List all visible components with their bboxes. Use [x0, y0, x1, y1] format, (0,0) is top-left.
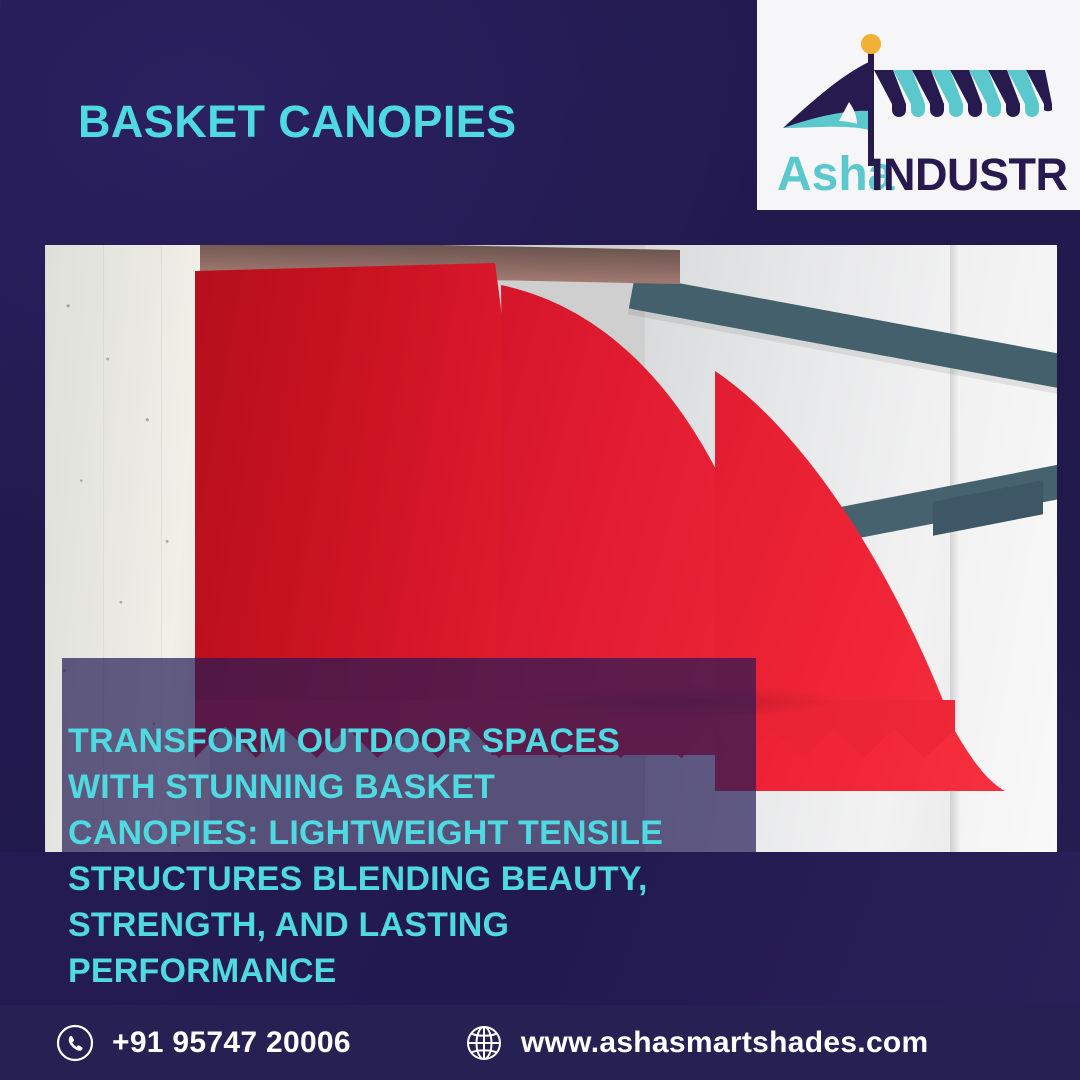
contact-footer: +91 95747 20006 www.ashasmartshades.com: [0, 1005, 1080, 1080]
logo-finial-icon: [861, 34, 881, 54]
globe-icon: [465, 1024, 503, 1062]
asha-industries-logo: Asha INDUSTRIES: [771, 18, 1067, 198]
body-line: STRUCTURES BLENDING BEAUTY,: [68, 856, 758, 902]
body-line: STRENGTH, AND LASTING: [68, 902, 758, 948]
body-line: WITH STUNNING BASKET: [68, 764, 758, 810]
body-line: PERFORMANCE: [68, 948, 758, 994]
body-line: TRANSFORM OUTDOOR SPACES: [68, 718, 758, 764]
page-title: BASKET CANOPIES: [78, 99, 517, 144]
brand-logo-panel: Asha INDUSTRIES: [757, 0, 1080, 210]
body-copy: TRANSFORM OUTDOOR SPACES WITH STUNNING B…: [68, 718, 758, 994]
logo-awning-icon: [874, 70, 1052, 117]
website-url: www.ashasmartshades.com: [521, 1026, 929, 1060]
phone-number: +91 95747 20006: [112, 1026, 351, 1060]
canopy-lobe-left: [195, 263, 525, 703]
website-contact[interactable]: www.ashasmartshades.com: [465, 1024, 929, 1062]
logo-brand-secondary: INDUSTRIES: [871, 149, 1067, 198]
body-line: CANOPIES: LIGHTWEIGHT TENSILE: [68, 810, 758, 856]
phone-icon: [56, 1024, 94, 1062]
phone-contact[interactable]: +91 95747 20006: [56, 1024, 351, 1062]
poster-canvas: BASKET CANOPIES: [0, 0, 1080, 1080]
